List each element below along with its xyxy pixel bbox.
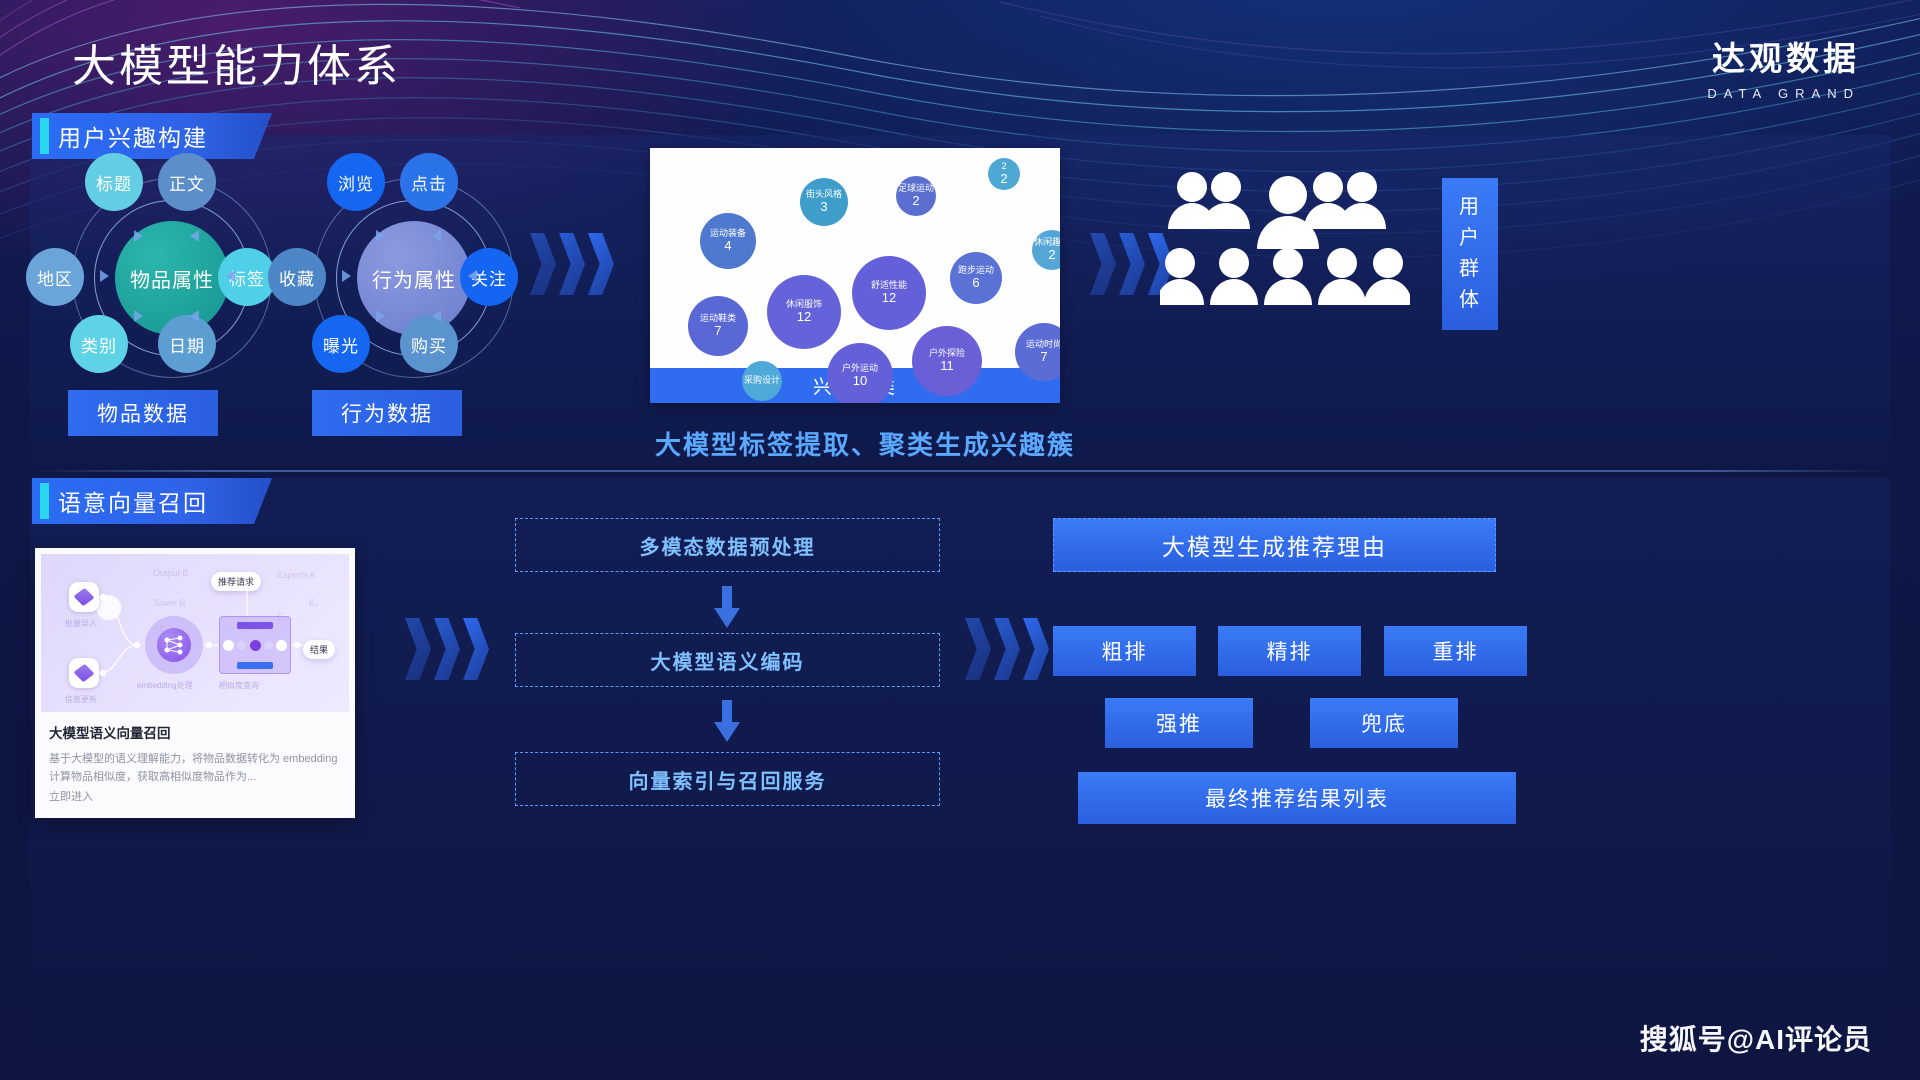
band-label: 语意向量召回 [58,484,208,518]
user-group-label: 用户群体 [1442,178,1498,330]
section-divider [30,470,1890,472]
orbit-node-date[interactable]: 日期 [158,315,216,373]
bubble-value: 10 [853,374,867,388]
rank-fallback-box[interactable]: 兜底 [1310,698,1458,748]
bubble-街头风格[interactable]: 街头风格3 [800,178,848,226]
bubble-运动鞋类[interactable]: 运动鞋类7 [688,296,748,356]
orbit-node-region[interactable]: 地区 [26,248,84,306]
orbit-node-exposure[interactable]: 曝光 [312,315,370,373]
watermark: 搜狐号@AI评论员 [1640,1018,1872,1058]
logo-text-cn: 达观数据 [1707,32,1860,80]
orbit-arrow-6 [190,310,199,322]
bubble-户外探险[interactable]: 户外探险11 [912,326,982,396]
orbit-arrow-5 [376,310,385,322]
orbit-node-click[interactable]: 点击 [400,153,458,211]
bubble-舒适性能[interactable]: 舒适性能12 [852,256,926,330]
bubble-户外运动[interactable]: 户外运动10 [827,343,893,403]
bubble-value: 2 [1048,248,1055,262]
bubble-value: 11 [940,359,954,373]
interest-cluster-caption: 大模型标签提取、聚类生成兴趣簇 [655,425,1075,462]
reason-generation-box[interactable]: 大模型生成推荐理由 [1053,518,1496,572]
orbit-arrow-3 [100,270,109,282]
band-accent-bar [40,483,49,519]
chevron-arrow-group-4 [965,618,1049,680]
thumb-connectors [41,554,349,712]
bubble-label: 休闲趣闻 [1034,238,1060,247]
orbit-node-body[interactable]: 正文 [158,153,216,211]
rank-coarse-box[interactable]: 粗排 [1053,626,1196,676]
card-description: 基于大模型的语义理解能力，将物品数据转化为 embedding计算物品相似度，获… [49,750,341,786]
logo-text-en: DATA GRAND [1707,86,1860,101]
chevron-arrow-group-1 [530,233,614,295]
band-accent-bar [40,118,49,154]
bubble-休闲趣闻[interactable]: 休闲趣闻2 [1032,230,1060,270]
bubble-layer: 运动装备4街头风格3足球运动222休闲服饰12舒适性能12跑步运动6休闲趣闻2运… [650,148,1060,403]
bubble-label: 采购设计 [744,376,780,385]
pill-behavior-data[interactable]: 行为数据 [312,390,462,436]
card-enter-link[interactable]: 立即进入 [49,788,349,804]
bubble-value: 6 [972,276,979,290]
flow-down-arrow-1 [714,586,740,628]
chevron-arrow-group-3 [405,618,489,680]
orbit-node-browse[interactable]: 浏览 [327,153,385,211]
card-thumbnail: Output B Tower B T Experts A E₁ E₂ 批量导入 … [41,554,349,712]
flow-step-preprocess[interactable]: 多模态数据预处理 [515,518,940,572]
band-label: 用户兴趣构建 [58,119,208,153]
bubble-运动装备[interactable]: 运动装备4 [700,213,756,269]
bubble-采购设计[interactable]: 采购设计 [742,361,782,401]
bubble-value: 2 [1000,172,1007,186]
bubble-运动时尚[interactable]: 运动时尚7 [1015,323,1060,381]
orbit-arrow-2 [432,230,441,242]
section-band-user-interest: 用户兴趣构建 [32,113,272,159]
page-title: 大模型能力体系 [72,30,401,94]
user-group-icon [1160,165,1410,315]
rank-rerank-box[interactable]: 重排 [1384,626,1527,676]
bubble-跑步运动[interactable]: 跑步运动6 [950,252,1002,304]
bubble-value: 4 [724,239,731,253]
rank-fine-box[interactable]: 精排 [1218,626,1361,676]
bubble-休闲服饰[interactable]: 休闲服饰12 [767,275,841,349]
orbit-node-purchase[interactable]: 购买 [400,315,458,373]
bubble-value: 12 [797,310,811,324]
orbit-arrow-4 [468,270,477,282]
bubble-value: 3 [820,200,827,214]
orbit-node-title[interactable]: 标题 [85,153,143,211]
bubble-足球运动[interactable]: 足球运动2 [896,176,936,216]
brand-logo: 达观数据 DATA GRAND [1707,32,1860,101]
orbit-arrow-1 [376,230,385,242]
orbit-node-favorite[interactable]: 收藏 [268,248,326,306]
slide-canvas: 大模型能力体系 达观数据 DATA GRAND 用户兴趣构建 物品属性 标题 正… [0,0,1920,1080]
orbit-behavior-attributes: 行为属性 浏览 点击 收藏 关注 曝光 购买 [272,158,572,398]
rank-strong-push-box[interactable]: 强推 [1105,698,1253,748]
bubble-value: 2 [912,194,919,208]
orbit-arrow-2 [190,230,199,242]
orbit-arrow-5 [134,310,143,322]
bubble-value: 12 [882,291,896,305]
orbit-arrow-6 [432,310,441,322]
orbit-arrow-1 [134,230,143,242]
section-band-semantic-recall: 语意向量召回 [32,478,272,524]
orbit-arrow-3 [342,270,351,282]
orbit-arrow-4 [226,270,235,282]
semantic-recall-card[interactable]: Output B Tower B T Experts A E₁ E₂ 批量导入 … [35,548,355,818]
card-title: 大模型语义向量召回 [49,722,349,742]
final-result-list-box[interactable]: 最终推荐结果列表 [1078,772,1516,824]
pill-item-data[interactable]: 物品数据 [68,390,218,436]
flow-down-arrow-2 [714,700,740,742]
bubble-value: 7 [1040,350,1047,364]
orbit-node-category[interactable]: 类别 [70,315,128,373]
flow-step-encode[interactable]: 大模型语义编码 [515,633,940,687]
bubble-2[interactable]: 22 [988,158,1020,190]
bubble-value: 7 [714,324,721,338]
flow-step-index-recall[interactable]: 向量索引与召回服务 [515,752,940,806]
